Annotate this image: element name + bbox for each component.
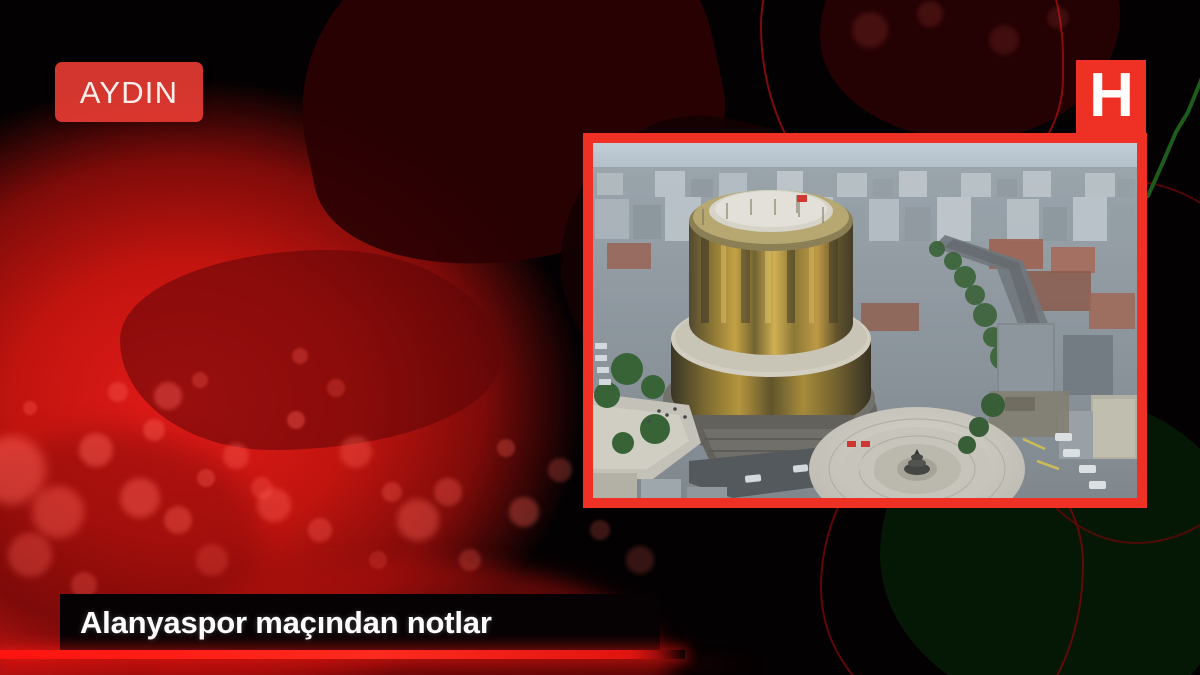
bokeh-circle bbox=[154, 382, 182, 410]
city-badge-label: AYDIN bbox=[80, 77, 178, 108]
bokeh-circle bbox=[548, 458, 572, 482]
aerial-city-photo-illustration bbox=[593, 143, 1137, 498]
photo-card[interactable] bbox=[583, 133, 1147, 508]
bokeh-circle bbox=[459, 549, 481, 571]
bokeh-circle bbox=[917, 1, 943, 27]
brand-logo-letter: H bbox=[1089, 65, 1133, 127]
city-badge: AYDIN bbox=[55, 62, 203, 122]
bokeh-circle bbox=[434, 478, 462, 506]
bokeh-circle bbox=[852, 12, 888, 48]
bokeh-circle bbox=[340, 436, 372, 468]
bokeh-circle bbox=[1047, 7, 1069, 29]
bokeh-circle bbox=[626, 546, 654, 574]
bokeh-circle bbox=[8, 533, 52, 577]
bokeh-circle bbox=[223, 443, 249, 469]
news-card-canvas: AYDIN H bbox=[0, 0, 1200, 675]
bokeh-circle bbox=[497, 439, 515, 457]
bokeh-circle bbox=[23, 401, 37, 415]
bokeh-circle bbox=[397, 499, 439, 541]
bokeh-circle bbox=[196, 544, 228, 576]
headline-title: Alanyaspor maçından notlar bbox=[60, 607, 492, 638]
bokeh-circle bbox=[287, 411, 305, 429]
bokeh-circle bbox=[108, 382, 128, 402]
bokeh-circle bbox=[369, 551, 387, 569]
bokeh-circle bbox=[327, 379, 345, 397]
bokeh-circle bbox=[308, 518, 332, 542]
bokeh-circle bbox=[79, 433, 113, 467]
bokeh-circle bbox=[257, 488, 291, 522]
bokeh-circle bbox=[509, 497, 539, 527]
bokeh-circle bbox=[292, 348, 308, 364]
bokeh-circle bbox=[120, 478, 160, 518]
headline-accent-line bbox=[0, 650, 685, 659]
bokeh-circle bbox=[192, 372, 208, 388]
photo-image bbox=[593, 143, 1137, 498]
bokeh-circle bbox=[143, 419, 165, 441]
bokeh-circle bbox=[32, 486, 84, 538]
bokeh-circle bbox=[989, 25, 1019, 55]
headline-bar: Alanyaspor maçından notlar bbox=[60, 594, 660, 650]
brand-logo[interactable]: H bbox=[1076, 60, 1146, 136]
bokeh-circle bbox=[590, 520, 610, 540]
bokeh-circle bbox=[197, 469, 215, 487]
bokeh-circle bbox=[164, 506, 192, 534]
bokeh-circle bbox=[382, 482, 402, 502]
